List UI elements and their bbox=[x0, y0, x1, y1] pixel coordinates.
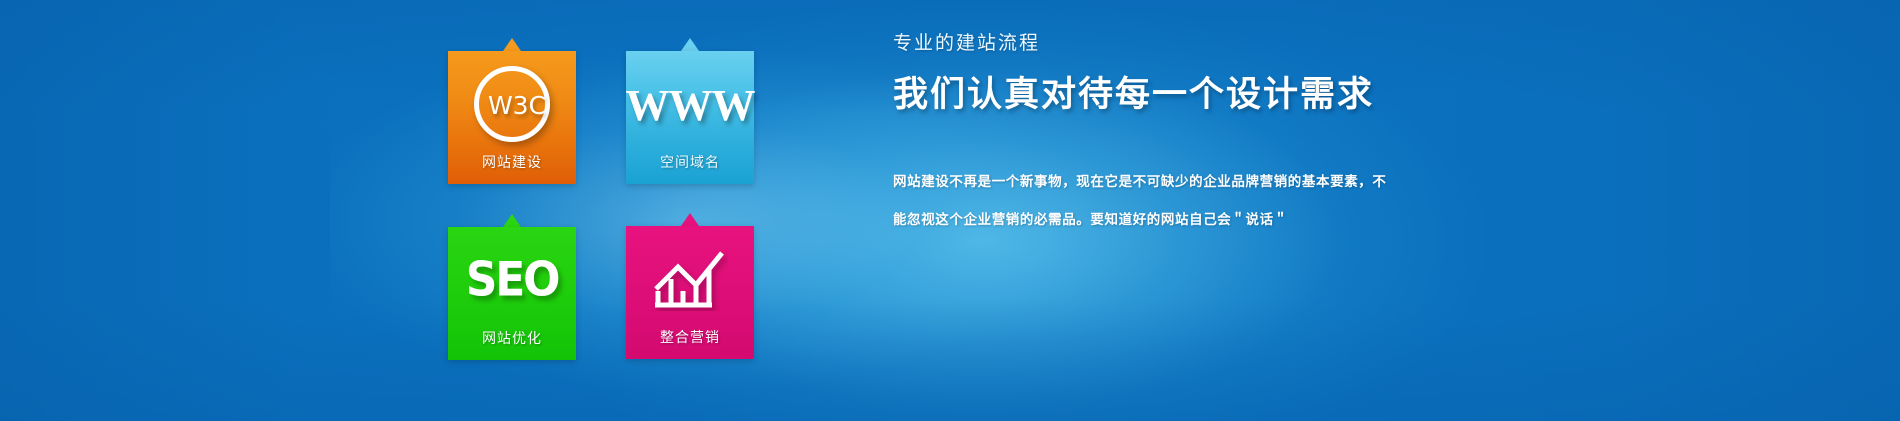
www-label: WWW bbox=[626, 84, 755, 128]
w3c-label: W3C bbox=[488, 93, 546, 118]
banner-paragraph: 网站建设不再是一个新事物，现在它是不可缺少的企业品牌营销的基本要素，不 能忽视这… bbox=[893, 163, 1409, 239]
card-pointer-triangle bbox=[503, 214, 521, 227]
card-pointer-triangle bbox=[681, 38, 699, 51]
paragraph-line: 网站建设不再是一个新事物，现在它是不可缺少的企业品牌营销的基本要素，不 bbox=[893, 163, 1409, 201]
bar-chart-trend-svg bbox=[652, 247, 728, 311]
paragraph-line: 能忽视这个企业营销的必需品。要知道好的网站自己会＂说话＂ bbox=[893, 201, 1409, 239]
card-pointer-triangle bbox=[503, 38, 521, 51]
banner-headline: 我们认真对待每一个设计需求 bbox=[893, 75, 1453, 115]
service-card-seo[interactable]: SEO 网站优化 bbox=[448, 227, 576, 360]
w3c-badge-icon: W3C bbox=[448, 65, 576, 143]
card-surface: SEO 网站优化 bbox=[448, 227, 576, 360]
card-surface: 整合营销 bbox=[626, 226, 754, 359]
card-surface: WWW 空间域名 bbox=[626, 51, 754, 184]
w3c-ring-shape: W3C bbox=[474, 66, 550, 142]
hero-banner: W3C 网站建设 WWW 空间域名 SEO 网站优化 bbox=[0, 0, 1900, 421]
card-pointer-triangle bbox=[681, 213, 699, 226]
service-card-web-build[interactable]: W3C 网站建设 bbox=[448, 51, 576, 184]
card-caption: 空间域名 bbox=[626, 152, 754, 172]
seo-label: SEO bbox=[466, 256, 559, 303]
seo-text-icon: SEO bbox=[448, 241, 576, 319]
service-card-domain-hosting[interactable]: WWW 空间域名 bbox=[626, 51, 754, 184]
banner-kicker: 专业的建站流程 bbox=[893, 34, 1453, 53]
card-caption: 整合营销 bbox=[626, 327, 754, 347]
card-surface: W3C 网站建设 bbox=[448, 51, 576, 184]
www-text-icon: WWW bbox=[626, 65, 754, 143]
card-caption: 网站优化 bbox=[448, 328, 576, 348]
bar-chart-trend-icon bbox=[626, 240, 754, 318]
banner-copy-block: 专业的建站流程 我们认真对待每一个设计需求 网站建设不再是一个新事物，现在它是不… bbox=[893, 34, 1453, 239]
service-card-integrated-marketing[interactable]: 整合营销 bbox=[626, 226, 754, 359]
card-caption: 网站建设 bbox=[448, 152, 576, 172]
